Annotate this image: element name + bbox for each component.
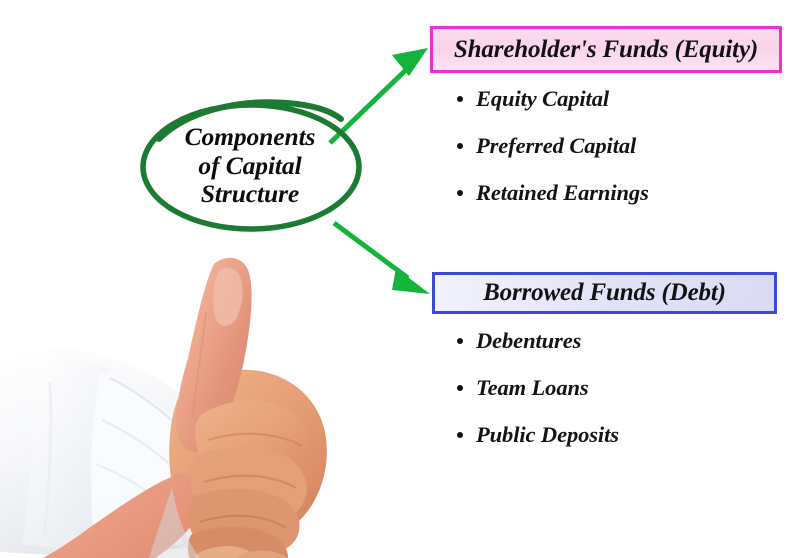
diagram-canvas: Components of Capital Structure Sharehol… <box>0 0 800 558</box>
bullet-icon <box>457 432 463 438</box>
list-item: Team Loans <box>455 375 619 401</box>
list-item: Preferred Capital <box>455 133 649 159</box>
bullet-icon <box>457 190 463 196</box>
debt-header-label: Borrowed Funds (Debt) <box>483 279 726 307</box>
list-item: Public Deposits <box>455 422 619 448</box>
list-item-label: Public Deposits <box>476 422 619 447</box>
debt-header-box: Borrowed Funds (Debt) <box>432 272 777 314</box>
bullet-icon <box>457 143 463 149</box>
center-node-label: Components of Capital Structure <box>141 103 359 229</box>
debt-item-list: Debentures Team Loans Public Deposits <box>455 328 619 469</box>
equity-item-list: Equity Capital Preferred Capital Retaine… <box>455 86 649 227</box>
bullet-icon <box>457 338 463 344</box>
list-item-label: Equity Capital <box>476 86 609 111</box>
list-item-label: Debentures <box>476 328 581 353</box>
list-item: Equity Capital <box>455 86 649 112</box>
list-item: Retained Earnings <box>455 180 649 206</box>
equity-header-label: Shareholder's Funds (Equity) <box>454 36 758 64</box>
list-item-label: Retained Earnings <box>476 180 649 205</box>
center-node: Components of Capital Structure <box>141 103 359 229</box>
bullet-icon <box>457 96 463 102</box>
equity-header-box: Shareholder's Funds (Equity) <box>430 26 782 73</box>
center-line-2: of Capital <box>198 152 301 181</box>
list-item: Debentures <box>455 328 619 354</box>
center-line-3: Structure <box>201 180 299 209</box>
list-item-label: Preferred Capital <box>476 133 636 158</box>
center-line-1: Components <box>185 123 316 152</box>
bullet-icon <box>457 385 463 391</box>
list-item-label: Team Loans <box>476 375 589 400</box>
